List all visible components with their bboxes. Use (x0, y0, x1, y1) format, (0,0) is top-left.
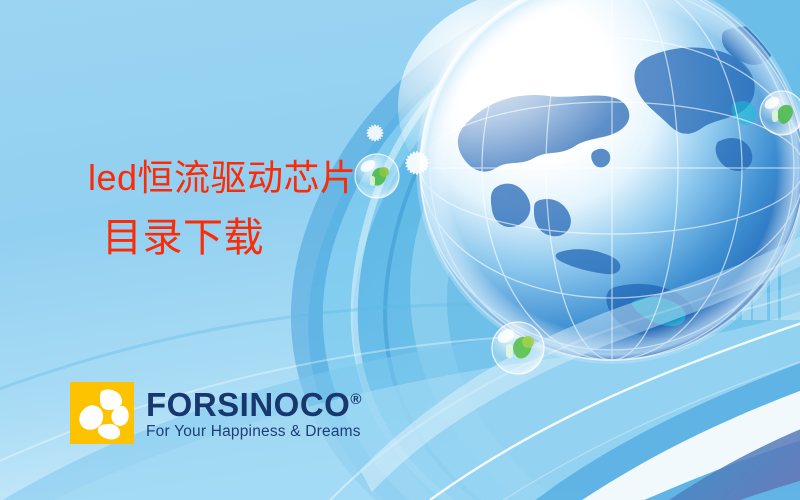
headline: led恒流驱动芯片 目录下载 (88, 160, 357, 258)
starburst-2 (366, 124, 383, 141)
logo-text: FORSINOCO® For Your Happiness & Dreams (146, 382, 361, 441)
logo-pinwheel-icon (70, 382, 134, 444)
pinwheel-petals-icon (70, 382, 134, 444)
bubble-1 (355, 154, 399, 198)
slide-canvas: led恒流驱动芯片 目录下载 FORSINOCO® For Your Happi… (0, 0, 800, 500)
logo-wordmark-text: FORSINOCO (146, 386, 350, 423)
headline-line-1: led恒流驱动芯片 (88, 160, 357, 196)
logo-tagline: For Your Happiness & Dreams (146, 423, 361, 441)
bubble-2 (492, 322, 544, 374)
bubble-3 (760, 91, 800, 135)
company-logo: FORSINOCO® For Your Happiness & Dreams (70, 382, 361, 444)
registered-trademark-icon: ® (350, 391, 361, 408)
headline-line-2: 目录下载 (102, 218, 357, 258)
logo-wordmark: FORSINOCO® (146, 383, 361, 422)
